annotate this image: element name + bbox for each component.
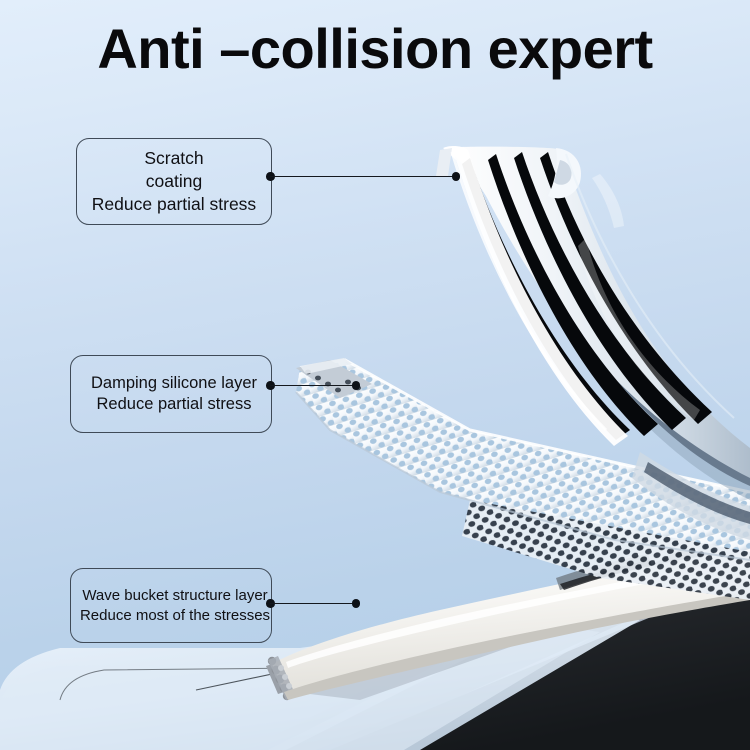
leader-1-line — [270, 176, 456, 177]
callout-1-line-1: Scratch — [92, 147, 256, 170]
product-feature-poster: Anti –collision expert Scratch coating R… — [0, 0, 750, 750]
callout-2-text: Damping silicone layer Reduce partial st… — [87, 373, 261, 416]
leader-line-damping-silicone-layer — [266, 381, 360, 390]
callout-1-line-2: coating — [92, 170, 256, 193]
callout-scratch-coating: Scratch coating Reduce partial stress — [76, 138, 272, 225]
callout-3-line-1: Wave bucket structure layer — [80, 586, 270, 606]
callout-2-line-2: Reduce partial stress — [91, 394, 257, 415]
leader-3-line — [270, 603, 356, 604]
leader-2-line — [270, 385, 356, 386]
page-title: Anti –collision expert — [0, 18, 750, 80]
leader-2-end-dot — [352, 381, 361, 390]
callout-1-line-3: Reduce partial stress — [92, 193, 256, 216]
callout-damping-silicone-layer: Damping silicone layer Reduce partial st… — [70, 355, 272, 433]
leader-line-wave-bucket-structure-layer — [266, 599, 360, 608]
callout-3-line-2: Reduce most of the stresses — [80, 606, 270, 626]
leader-3-end-dot — [352, 599, 361, 608]
callout-2-line-1: Damping silicone layer — [91, 373, 257, 394]
leader-line-scratch-coating — [266, 172, 460, 181]
callout-3-text: Wave bucket structure layer Reduce most … — [76, 586, 274, 625]
callout-1-text: Scratch coating Reduce partial stress — [88, 147, 260, 215]
leader-1-end-dot — [452, 172, 461, 181]
callout-wave-bucket-structure-layer: Wave bucket structure layer Reduce most … — [70, 568, 272, 643]
